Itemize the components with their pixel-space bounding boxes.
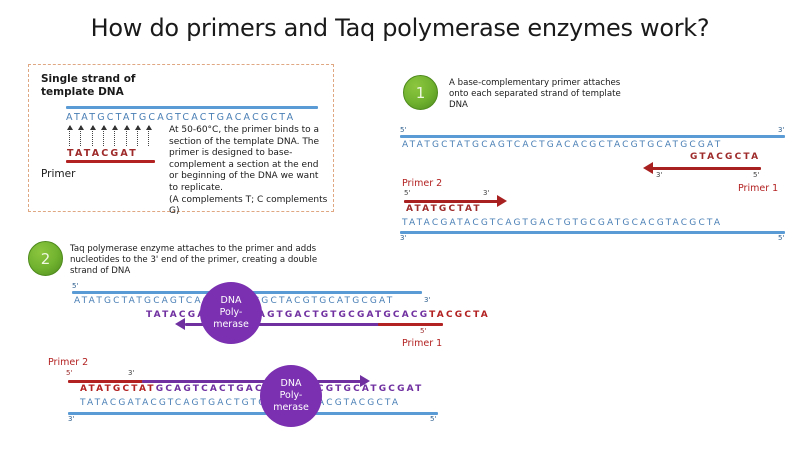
step2b-new-strand-red: ATATGCTAT — [80, 384, 156, 394]
template-sequence: ATATGCTATGCAGTCACTGACACGCTA — [66, 112, 295, 123]
enzyme-b-line-1: DNA — [281, 378, 302, 390]
step2b-bottom-5prime: 5' — [430, 415, 436, 423]
step1-primer2-label: Primer 2 — [402, 178, 442, 189]
step2a-primer1-bar — [378, 323, 443, 326]
step1-primer2-5prime: 5' — [404, 189, 410, 197]
base-pair-arrow-icon — [92, 126, 94, 146]
step2b-bottom-3prime: 3' — [68, 415, 74, 423]
page-title: How do primers and Taq polymerase enzyme… — [0, 14, 800, 42]
enzyme-a-line-1: DNA — [221, 295, 242, 307]
step2a-new-strand-purple: TATACGATACGTCAGTGACTGTGCGATGCACG — [146, 310, 429, 320]
step-2-badge: 2 — [28, 241, 63, 276]
step1-bottom-strand-bar — [400, 231, 785, 234]
step1-top-strand-sequence: ATATGCTATGCAGTCACTGACACGCTACGTGCATGCGAT — [402, 140, 722, 150]
step2b-primer-5prime: 5' — [66, 369, 72, 377]
step2b-new-strand-sequence: ATATGCTATGCAGTCACTGACACGCTACGTGCATGCGAT — [80, 384, 424, 394]
step1-primer1-arrowhead-icon — [643, 162, 653, 174]
step-1-description: A base-complementary primer attaches ont… — [449, 78, 629, 111]
base-pairing-arrows — [67, 126, 157, 148]
step2a-primer1-label: Primer 1 — [402, 338, 442, 349]
enzyme-b-line-3: merase — [273, 402, 309, 414]
template-strand-bar — [66, 106, 318, 109]
step1-bottom-strand-sequence: TATACGATACGTCAGTGACTGTGCGATGCACGTACGCTA — [402, 218, 722, 228]
base-pair-arrow-icon — [114, 126, 116, 146]
step1-primer1-label: Primer 1 — [738, 183, 778, 194]
step-2-description: Taq polymerase enzyme attaches to the pr… — [70, 244, 320, 277]
base-pair-arrow-icon — [103, 126, 105, 146]
step1-top-strand-bar — [400, 135, 785, 138]
step2b-primer-3prime: 3' — [128, 369, 134, 377]
step-1-badge: 1 — [403, 75, 438, 110]
step2b-bottom-strand-bar — [68, 412, 438, 415]
dna-polymerase-enzyme-a: DNA Poly- merase — [200, 282, 262, 344]
step1-primer1-5prime: 5' — [753, 171, 759, 179]
base-pair-arrow-icon — [126, 126, 128, 146]
step2a-top-5prime: 5' — [72, 282, 78, 290]
step1-primer2-3prime: 3' — [483, 189, 489, 197]
template-dna-info-box: Single strand of template DNA ATATGCTATG… — [28, 64, 334, 212]
base-pair-arrow-icon — [69, 126, 71, 146]
step1-primer2-sequence: ATATGCTAT — [406, 204, 482, 214]
dna-polymerase-enzyme-b: DNA Poly- merase — [260, 365, 322, 427]
step1-primer1-bar — [651, 167, 761, 170]
step2b-primer2-bar — [68, 380, 143, 383]
step1-primer1-3prime: 3' — [656, 171, 662, 179]
step2a-new-strand-sequence: TATACGATACGTCAGTGACTGTGCGATGCACGTACGCTA — [146, 310, 490, 320]
step1-top-strand-3prime: 3' — [778, 126, 784, 134]
info-box-body-text: At 50-60°C, the primer binds to a sectio… — [169, 125, 329, 218]
step1-primer1-sequence: GTACGCTA — [690, 152, 760, 162]
step1-top-strand-5prime: 5' — [400, 126, 406, 134]
base-pair-arrow-icon — [137, 126, 139, 146]
base-pair-arrow-icon — [148, 126, 150, 146]
enzyme-a-line-3: merase — [213, 319, 249, 331]
primer-sequence: TATACGAT — [67, 148, 138, 159]
enzyme-a-line-2: Poly- — [220, 307, 243, 319]
step1-bottom-strand-5prime: 5' — [778, 234, 784, 242]
step-2-number: 2 — [41, 250, 51, 268]
step2a-primer1-5prime: 5' — [420, 327, 426, 335]
primer-bar — [66, 160, 155, 163]
base-pair-arrow-icon — [80, 126, 82, 146]
step2a-new-strand-red: TACGCTA — [429, 310, 490, 320]
step2a-top-3prime: 3' — [424, 296, 430, 304]
step2b-purple-bar — [142, 380, 362, 383]
step2b-bottom-sequence: TATACGATACGTCAGTGACTGTGCGATGCACGTACGCTA — [80, 398, 400, 408]
primer-label: Primer — [41, 168, 75, 180]
enzyme-b-line-2: Poly- — [280, 390, 303, 402]
step1-primer2-arrowhead-icon — [497, 195, 507, 207]
step2b-primer2-label: Primer 2 — [48, 357, 88, 368]
step1-bottom-strand-3prime: 3' — [400, 234, 406, 242]
step1-primer2-bar — [404, 200, 499, 203]
step2a-synthesis-arrowhead-icon — [175, 318, 185, 330]
info-box-heading: Single strand of template DNA — [41, 73, 181, 99]
slide-canvas: How do primers and Taq polymerase enzyme… — [0, 0, 800, 450]
step-1-number: 1 — [416, 84, 426, 102]
